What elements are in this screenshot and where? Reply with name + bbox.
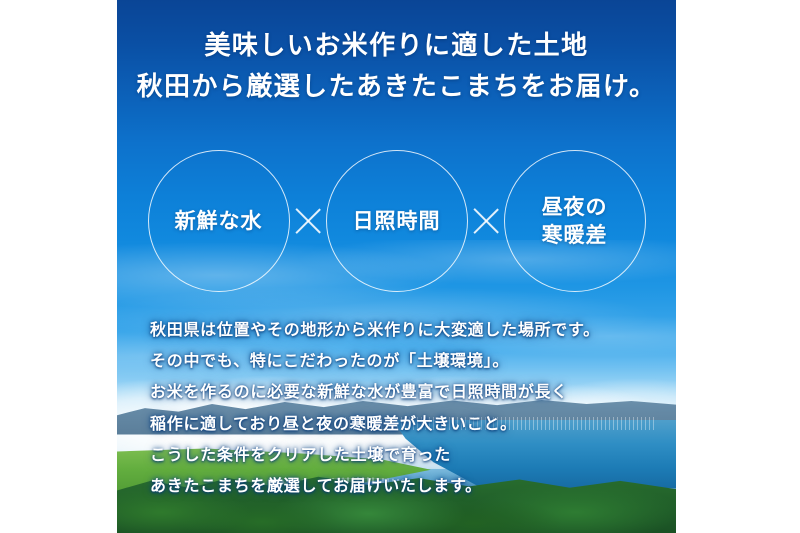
factor-label-fresh-water: 新鮮な水 [175, 207, 263, 235]
body-line-5: こうした条件をクリアした土壌で育った [150, 439, 600, 470]
factor-circles-row: 新鮮な水 日照時間 昼夜の 寒暖差 [117, 148, 676, 294]
body-line-1: 秋田県は位置やその地形から米作りに大変適した場所です。 [150, 314, 600, 345]
body-copy: 秋田県は位置やその地形から米作りに大変適した場所です。 その中でも、特にこだわっ… [150, 314, 600, 501]
multiply-icon-2 [467, 202, 505, 240]
body-line-3: お米を作るのに必要な新鮮な水が豊富で日照時間が長く [150, 376, 600, 407]
headline-line-2: 秋田から厳選したあきたこまちをお届け。 [117, 67, 676, 108]
body-line-6: あきたこまちを厳選してお届けいたします。 [150, 470, 600, 501]
factor-label-temperature-range: 昼夜の 寒暖差 [542, 193, 608, 249]
promo-banner: 美味しいお米作りに適した土地 秋田から厳選したあきたこまちをお届け。 新鮮な水 … [117, 0, 676, 533]
body-line-4: 稲作に適しており昼と夜の寒暖差が大きいこと。 [150, 408, 600, 439]
headline: 美味しいお米作りに適した土地 秋田から厳選したあきたこまちをお届け。 [117, 26, 676, 108]
factor-label-sunshine-hours: 日照時間 [353, 207, 441, 235]
headline-line-1: 美味しいお米作りに適した土地 [117, 26, 676, 67]
factor-circle-fresh-water: 新鮮な水 [148, 150, 290, 292]
banner-stage: 美味しいお米作りに適した土地 秋田から厳選したあきたこまちをお届け。 新鮮な水 … [0, 0, 800, 533]
factor-circle-temperature-range: 昼夜の 寒暖差 [504, 150, 646, 292]
multiply-icon-1 [289, 202, 327, 240]
factor-circle-sunshine-hours: 日照時間 [326, 150, 468, 292]
body-line-2: その中でも、特にこだわったのが「土壌環境」。 [150, 345, 600, 376]
